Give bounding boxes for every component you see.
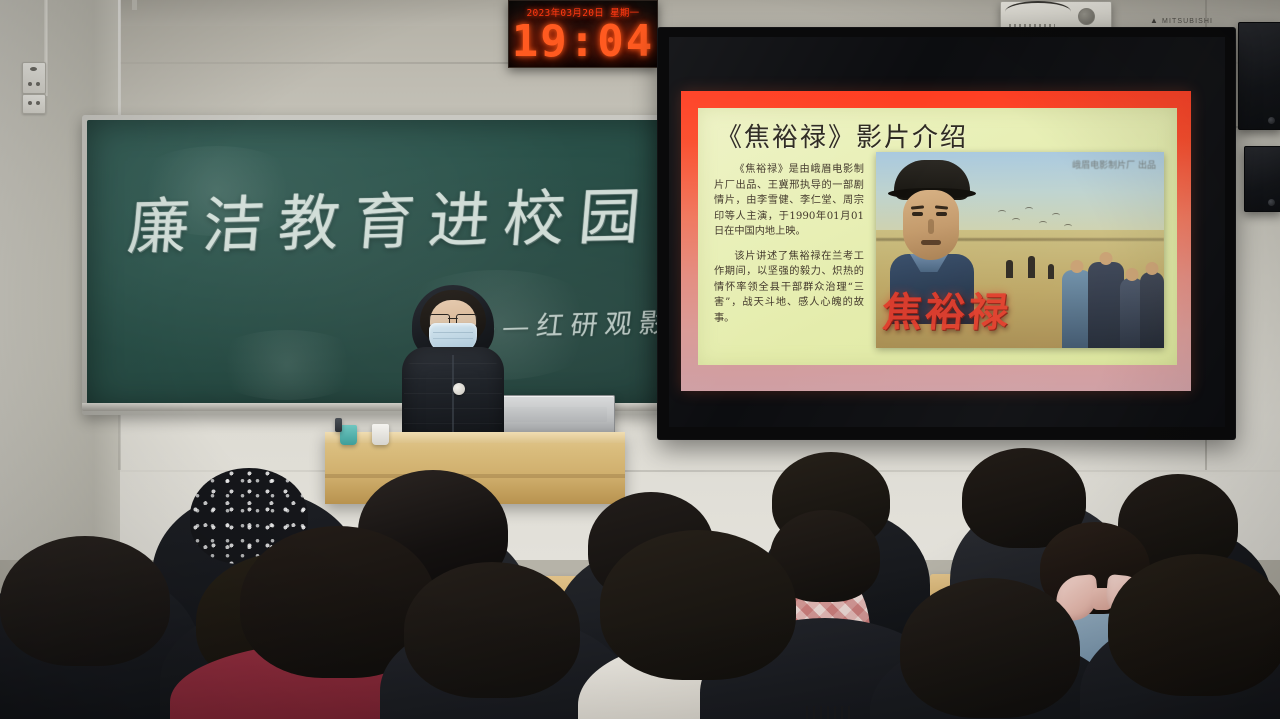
- seated-audience: [0, 430, 1280, 719]
- clock-time: 19:04: [509, 16, 657, 67]
- ceiling-wire-stub: [132, 0, 137, 10]
- audience-head: [900, 578, 1080, 718]
- audience-head: [404, 562, 580, 698]
- projector-lens-icon: [1078, 8, 1095, 25]
- blackboard-surface: 廉洁教育进校园 ——红研观影会: [87, 120, 662, 410]
- projection-screen: 《焦裕禄》影片介绍 《焦裕禄》是由峨眉电影制片厂出品、王冀邢执导的一部剧情片，由…: [669, 37, 1225, 427]
- wall-socket-lower[interactable]: [22, 94, 46, 114]
- movie-still-image: 峨眉电影制片厂 出品: [876, 152, 1164, 348]
- audience-head: [600, 530, 796, 680]
- poster-portrait-face: [903, 190, 959, 260]
- slide: 《焦裕禄》影片介绍 《焦裕禄》是由峨眉电影制片厂出品、王冀邢执导的一部剧情片，由…: [681, 91, 1191, 391]
- brand-text: MITSUBISHI: [1162, 18, 1213, 25]
- blackboard-headline: 廉洁教育进校园: [125, 167, 633, 266]
- wall-speaker-lower: [1244, 146, 1280, 212]
- slide-content-panel: 《焦裕禄》影片介绍 《焦裕禄》是由峨眉电影制片厂出品、王冀邢执导的一部剧情片，由…: [698, 108, 1177, 365]
- mitsubishi-logo-icon: ▲: [1150, 16, 1159, 25]
- slide-title: 《焦裕禄》影片介绍: [716, 117, 968, 154]
- slide-paragraph-2: 该片讲述了焦裕禄在兰考工作期间，以坚强的毅力、炽热的情怀率领全县干部群众治理“三…: [714, 249, 864, 327]
- slide-body-text: 《焦裕禄》是由峨眉电影制片厂出品、王冀邢执导的一部剧情片，由李雪健、李仁堂、周宗…: [714, 162, 864, 335]
- wall-speaker-upper: [1238, 22, 1280, 130]
- audience-head: [1108, 554, 1280, 696]
- poster-credits: 峨眉电影制片厂 出品: [1036, 160, 1156, 200]
- poster-figure-d: [1140, 272, 1164, 348]
- poster-figure-b: [1088, 262, 1124, 348]
- projection-screen-frame: 《焦裕禄》影片介绍 《焦裕禄》是由峨眉电影制片厂出品、王冀邢执导的一部剧情片，由…: [658, 28, 1235, 439]
- slide-paragraph-1: 《焦裕禄》是由峨眉电影制片厂出品、王冀邢执导的一部剧情片，由李雪健、李仁堂、周宗…: [714, 162, 864, 240]
- wall-switch-upper[interactable]: [22, 62, 46, 94]
- air-conditioner-brand: ▲MITSUBISHI: [1150, 16, 1213, 25]
- poster-birds: [994, 204, 1084, 234]
- presenter-badge: [453, 383, 465, 395]
- led-wall-clock: 2023年03月20日 星期一 19:04: [508, 0, 658, 68]
- audience-head: [0, 536, 170, 666]
- poster-film-title: 焦裕禄: [879, 284, 1024, 346]
- hoodie-zipper: [806, 706, 852, 719]
- blackboard: 廉洁教育进校园 ——红研观影会: [82, 115, 667, 415]
- projector-cable: [1005, 1, 1071, 13]
- classroom-scene: 廉洁教育进校园 ——红研观影会 2023年03月20日 星期一 19:04 ▲M…: [0, 0, 1280, 719]
